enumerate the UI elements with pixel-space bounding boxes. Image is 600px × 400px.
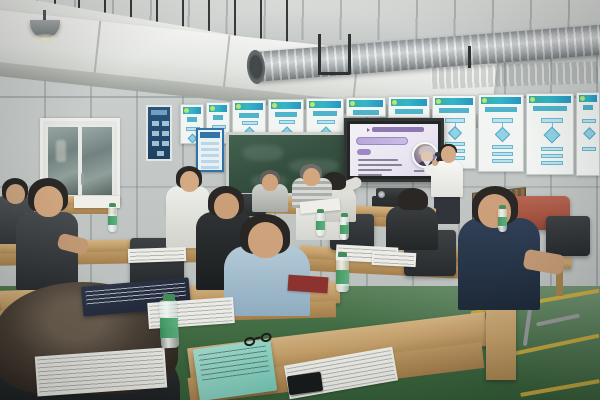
pipe-hanger-right [348,34,351,74]
bottle-cap [338,252,347,257]
slide-section-banner [356,137,408,145]
slide-bullet-tag [357,149,371,155]
bottle-cap [341,213,348,217]
pipe-hanger-far [468,46,471,68]
presenter-shirt [431,161,463,197]
bottle-cap [163,294,175,301]
photograph-classroom-seminar [0,0,600,400]
bottle-label [498,217,507,226]
flowchart-poster [346,97,386,117]
bottle-label [340,225,349,234]
lamp-glow [33,34,57,43]
pipe-hanger-left [318,34,321,74]
flowchart-poster [388,96,430,118]
bottle-cap [317,209,324,213]
flowchart-poster [478,94,524,172]
bottle-label [108,216,117,225]
pipe-hanger-cross [318,72,350,75]
microphone-capsule [435,152,441,157]
bottle-label [316,221,325,230]
presenter-head [441,146,456,163]
bottle-cap [499,205,506,209]
flowchart-poster [526,93,574,175]
bottle-label [160,318,178,338]
handout-paper[interactable] [128,247,186,263]
flowchart-poster [576,92,600,176]
red-notebook[interactable] [287,275,328,294]
bottle-cap [109,203,116,207]
slide-title-caret [367,128,370,132]
chair[interactable] [546,216,590,256]
handout-paper[interactable] [372,251,417,267]
projector-lens [378,191,385,198]
door-reflection [56,140,66,162]
presenter-hand [432,160,438,166]
bottle-label [336,270,349,284]
blue-information-banner [146,105,172,161]
training-booklet[interactable] [193,339,277,400]
slide-title-bar [372,127,424,132]
notice-poster [196,128,224,172]
